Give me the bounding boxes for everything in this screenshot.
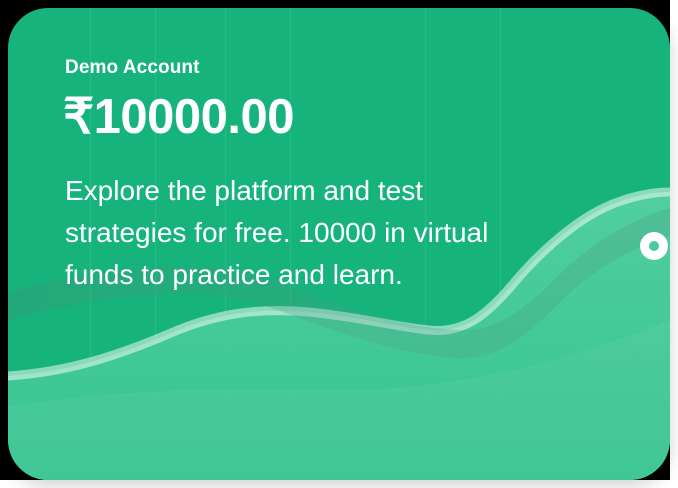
page-background-bottom [0, 480, 678, 488]
page-background-right [670, 0, 678, 488]
chart-point-marker-icon [640, 232, 668, 260]
balance-amount: ₹10000.00 [63, 88, 670, 146]
screen-root: Demo Account ₹10000.00 Explore the platf… [0, 0, 678, 488]
promo-description: Explore the platform and test strategies… [65, 170, 535, 296]
card-content: Demo Account ₹10000.00 Explore the platf… [8, 8, 670, 296]
demo-account-card[interactable]: Demo Account ₹10000.00 Explore the platf… [8, 8, 670, 480]
account-type-label: Demo Account [65, 56, 670, 80]
area-series-lower-sheen [8, 320, 670, 480]
